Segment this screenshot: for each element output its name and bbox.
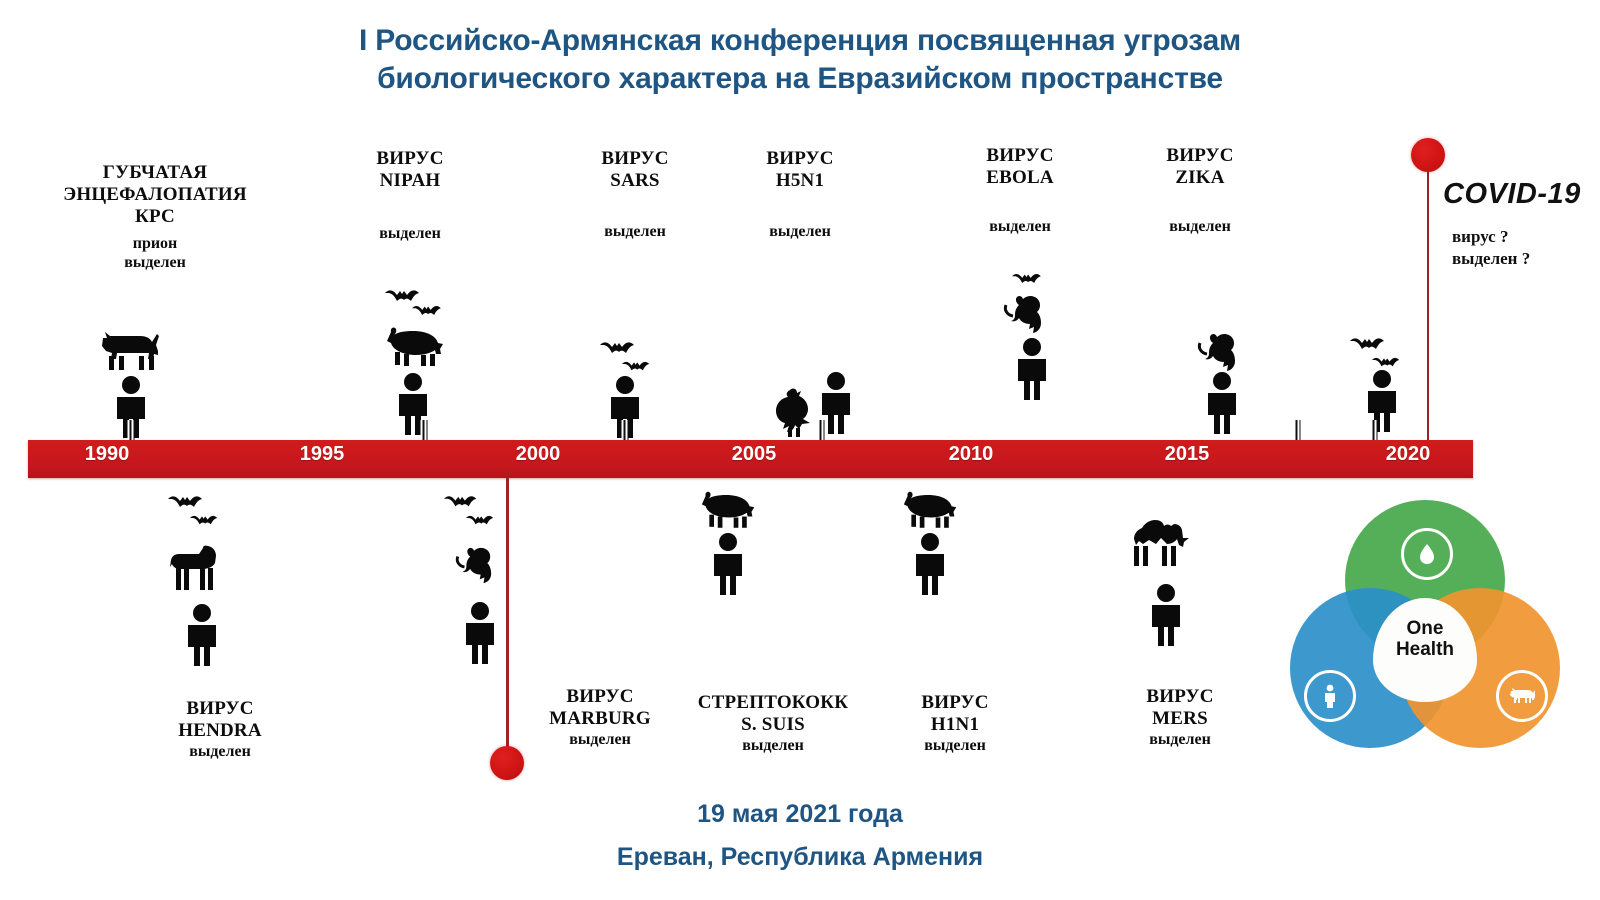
- person-icon: [1360, 370, 1404, 432]
- one-health-ring-human: [1304, 670, 1356, 722]
- timeline-year-2015: 2015: [1165, 443, 1210, 466]
- bat-icon: [1350, 336, 1390, 356]
- event-h1n1-name-1: ВИРУС: [875, 692, 1035, 714]
- event-bse-sub-2: выделен: [10, 253, 300, 272]
- event-nipah-sub-1: выделен: [320, 224, 500, 243]
- pig-icon: [700, 490, 758, 530]
- covid-connector-line: [1427, 160, 1429, 450]
- event-bse-sub-1: прион: [10, 234, 300, 253]
- event-h5n1: ВИРУС H5N1 выделен: [710, 148, 890, 241]
- one-health-diagram: One Health: [1290, 500, 1560, 760]
- event-ebola: ВИРУС EBOLA выделен: [930, 145, 1110, 236]
- person-icon: [908, 533, 952, 595]
- event-bse-name-3: КРС: [10, 206, 300, 228]
- event-h5n1-sub-1: выделен: [710, 222, 890, 241]
- event-hendra-name-1: ВИРУС: [130, 698, 310, 720]
- event-hendra-name-2: HENDRA: [130, 720, 310, 742]
- timeline-tick-2015: [1371, 420, 1378, 440]
- event-marburg: ВИРУС MARBURG выделен: [515, 686, 685, 749]
- covid-subtext: вирус ? выделен ?: [1452, 226, 1530, 270]
- timeline-year-2020: 2020: [1386, 443, 1431, 466]
- event-ebola-sub-1: выделен: [930, 217, 1110, 236]
- footer-location: Ереван, Республика Армения: [0, 843, 1600, 872]
- event-hendra: ВИРУС HENDRA выделен: [130, 698, 310, 761]
- timeline-tick-1998: [421, 420, 428, 440]
- event-sars-sub-1: выделен: [545, 222, 725, 241]
- person-icon: [1144, 584, 1188, 646]
- monkey-icon: [1000, 294, 1046, 336]
- person-icon: [109, 376, 167, 438]
- timeline-year-2010: 2010: [949, 443, 994, 466]
- event-marburg-name-2: MARBURG: [515, 708, 685, 730]
- covid-sub-2: выделен ?: [1452, 248, 1530, 270]
- event-ssuis-sub-1: выделен: [678, 736, 868, 755]
- event-nipah-name-1: ВИРУС: [320, 148, 500, 170]
- cow-icon: [1509, 687, 1535, 705]
- event-h1n1-name-2: H1N1: [875, 714, 1035, 736]
- title-line-2: биологического характера на Евразийском …: [0, 60, 1600, 98]
- monkey-icon: [1194, 332, 1240, 374]
- event-ssuis-name-2: S. SUIS: [678, 714, 868, 736]
- person-icon: [1322, 684, 1338, 708]
- bat-icon: [168, 494, 208, 514]
- event-sars-name-2: SARS: [545, 170, 725, 192]
- event-ssuis-name-1: СТРЕПТОКОКК: [678, 692, 868, 714]
- one-health-label-line-2: Health: [1385, 639, 1465, 660]
- event-mers: ВИРУС MERS выделен: [1100, 686, 1260, 749]
- one-health-ring-environment: [1401, 528, 1453, 580]
- event-bse: ГУБЧАТАЯ ЭНЦЕФАЛОПАТИЯ КРС прион выделен: [10, 162, 300, 272]
- cow-icon: [95, 326, 167, 374]
- one-health-ring-animal: [1496, 670, 1548, 722]
- marburg-marker-dot: [490, 746, 524, 780]
- timeline-year-2000: 2000: [516, 443, 561, 466]
- bat-icon: [466, 514, 498, 530]
- person-icon: [391, 373, 435, 435]
- chicken-icon: [772, 388, 816, 438]
- bat-icon: [600, 340, 640, 360]
- event-mers-name-1: ВИРУС: [1100, 686, 1260, 708]
- one-health-label-line-1: One: [1385, 618, 1465, 639]
- event-zika: ВИРУС ZIKA выделен: [1110, 145, 1290, 236]
- event-h1n1: ВИРУС H1N1 выделен: [875, 692, 1035, 755]
- event-mers-sub-1: выделен: [1100, 730, 1260, 749]
- event-hendra-sub-1: выделен: [130, 742, 310, 761]
- timeline-year-1990: 1990: [85, 443, 130, 466]
- monkey-icon: [452, 546, 496, 586]
- event-zika-name-2: ZIKA: [1110, 167, 1290, 189]
- timeline-tick-2002: [622, 420, 629, 440]
- timeline-tick-1992: [128, 420, 135, 440]
- event-zika-sub-1: выделен: [1110, 217, 1290, 236]
- page-title: I Российско-Армянская конференция посвящ…: [0, 22, 1600, 99]
- covid-marker-dot: [1411, 138, 1445, 172]
- event-sars-name-1: ВИРУС: [545, 148, 725, 170]
- leaf-icon: [1417, 543, 1437, 565]
- bat-icon: [190, 514, 222, 530]
- horse-icon: [168, 544, 228, 594]
- event-h5n1-name-2: H5N1: [710, 170, 890, 192]
- event-h5n1-name-1: ВИРУС: [710, 148, 890, 170]
- covid-sub-1: вирус ?: [1452, 226, 1530, 248]
- bat-icon: [412, 304, 446, 321]
- pig-icon: [902, 490, 960, 530]
- timeline-year-2005: 2005: [732, 443, 777, 466]
- person-icon: [1010, 338, 1054, 400]
- person-icon: [706, 533, 750, 595]
- person-icon: [1200, 372, 1244, 434]
- footer-date: 19 мая 2021 года: [0, 800, 1600, 829]
- person-icon: [458, 602, 502, 664]
- bat-icon: [444, 494, 482, 513]
- event-zika-name-1: ВИРУС: [1110, 145, 1290, 167]
- event-marburg-name-1: ВИРУС: [515, 686, 685, 708]
- event-bse-name-1: ГУБЧАТАЯ: [10, 162, 300, 184]
- slide-canvas: I Российско-Армянская конференция посвящ…: [0, 0, 1600, 900]
- event-bse-name-2: ЭНЦЕФАЛОПАТИЯ: [10, 184, 300, 206]
- event-mers-name-2: MERS: [1100, 708, 1260, 730]
- marburg-connector-line: [506, 478, 509, 762]
- event-h1n1-sub-1: выделен: [875, 736, 1035, 755]
- timeline-year-1995: 1995: [300, 443, 345, 466]
- event-ebola-name-2: EBOLA: [930, 167, 1110, 189]
- event-ebola-name-1: ВИРУС: [930, 145, 1110, 167]
- event-nipah: ВИРУС NIPAH выделен: [320, 148, 500, 243]
- covid-title: COVID-19: [1443, 178, 1581, 211]
- bat-icon: [1012, 272, 1046, 289]
- event-nipah-name-2: NIPAH: [320, 170, 500, 192]
- event-sars: ВИРУС SARS выделен: [545, 148, 725, 241]
- timeline-tick-2005: [818, 420, 825, 440]
- title-line-1: I Российско-Армянская конференция посвящ…: [359, 24, 1241, 57]
- person-icon: [180, 604, 224, 666]
- camel-icon: [1128, 520, 1194, 568]
- pig-icon: [385, 326, 447, 368]
- timeline-tick-2014: [1294, 420, 1301, 440]
- event-marburg-sub-1: выделен: [515, 730, 685, 749]
- event-ssuis: СТРЕПТОКОКК S. SUIS выделен: [678, 692, 868, 755]
- one-health-label: One Health: [1385, 618, 1465, 661]
- bat-icon: [622, 360, 654, 376]
